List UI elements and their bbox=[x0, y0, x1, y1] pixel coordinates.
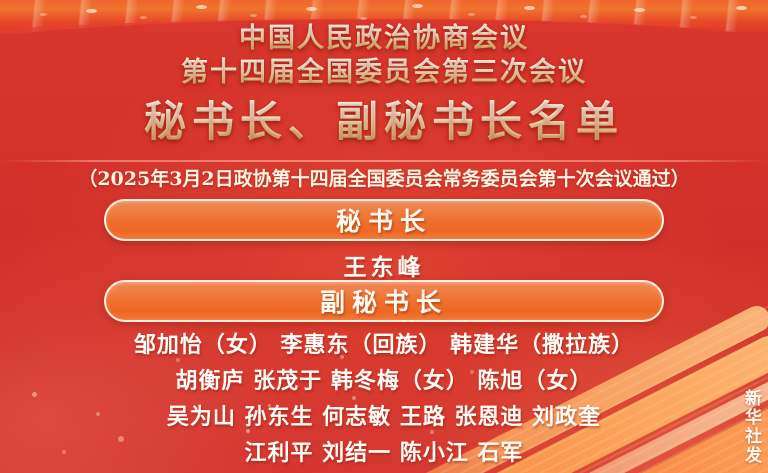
section-pill-deputy-secretaries-general: 副秘书长 bbox=[104, 280, 664, 322]
agency-credit: 新华社发 bbox=[737, 389, 761, 465]
section-label-secretary-general: 秘书长 bbox=[336, 202, 432, 238]
poster-canvas: 中国人民政治协商会议 第十四届全国委员会第三次会议 秘书长、副秘书长名单 （20… bbox=[0, 0, 768, 473]
header-divider bbox=[0, 160, 768, 162]
deputy-name-list: 邹加怡（女） 李惠东（回族） 韩建华（撒拉族） 胡衡庐 张茂于 韩冬梅（女） 陈… bbox=[0, 328, 768, 472]
secretary-general-name: 王东峰 bbox=[0, 248, 768, 282]
title-line-1: 中国人民政治协商会议 bbox=[0, 22, 768, 55]
section-pill-secretary-general: 秘书长 bbox=[104, 199, 664, 241]
deputy-name-row: 江利平 刘结一 陈小江 石军 bbox=[245, 436, 524, 472]
adoption-note: （2025年3月2日政协第十四届全国委员会常务委员会第十次会议通过） bbox=[0, 166, 768, 192]
poster-headline: 中国人民政治协商会议 第十四届全国委员会第三次会议 秘书长、副秘书长名单 bbox=[0, 22, 768, 151]
deputy-name-row: 吴为山 孙东生 何志敏 王路 张恩迪 刘政奎 bbox=[167, 400, 601, 436]
deputy-name-row: 胡衡庐 张茂于 韩冬梅（女） 陈旭（女） bbox=[176, 364, 593, 400]
title-line-2: 第十四届全国委员会第三次会议 bbox=[0, 55, 768, 91]
deputy-name-row: 邹加怡（女） 李惠东（回族） 韩建华（撒拉族） bbox=[134, 328, 634, 364]
section-label-deputy-secretaries-general: 副秘书长 bbox=[320, 283, 448, 319]
title-main: 秘书长、副秘书长名单 bbox=[0, 93, 768, 151]
